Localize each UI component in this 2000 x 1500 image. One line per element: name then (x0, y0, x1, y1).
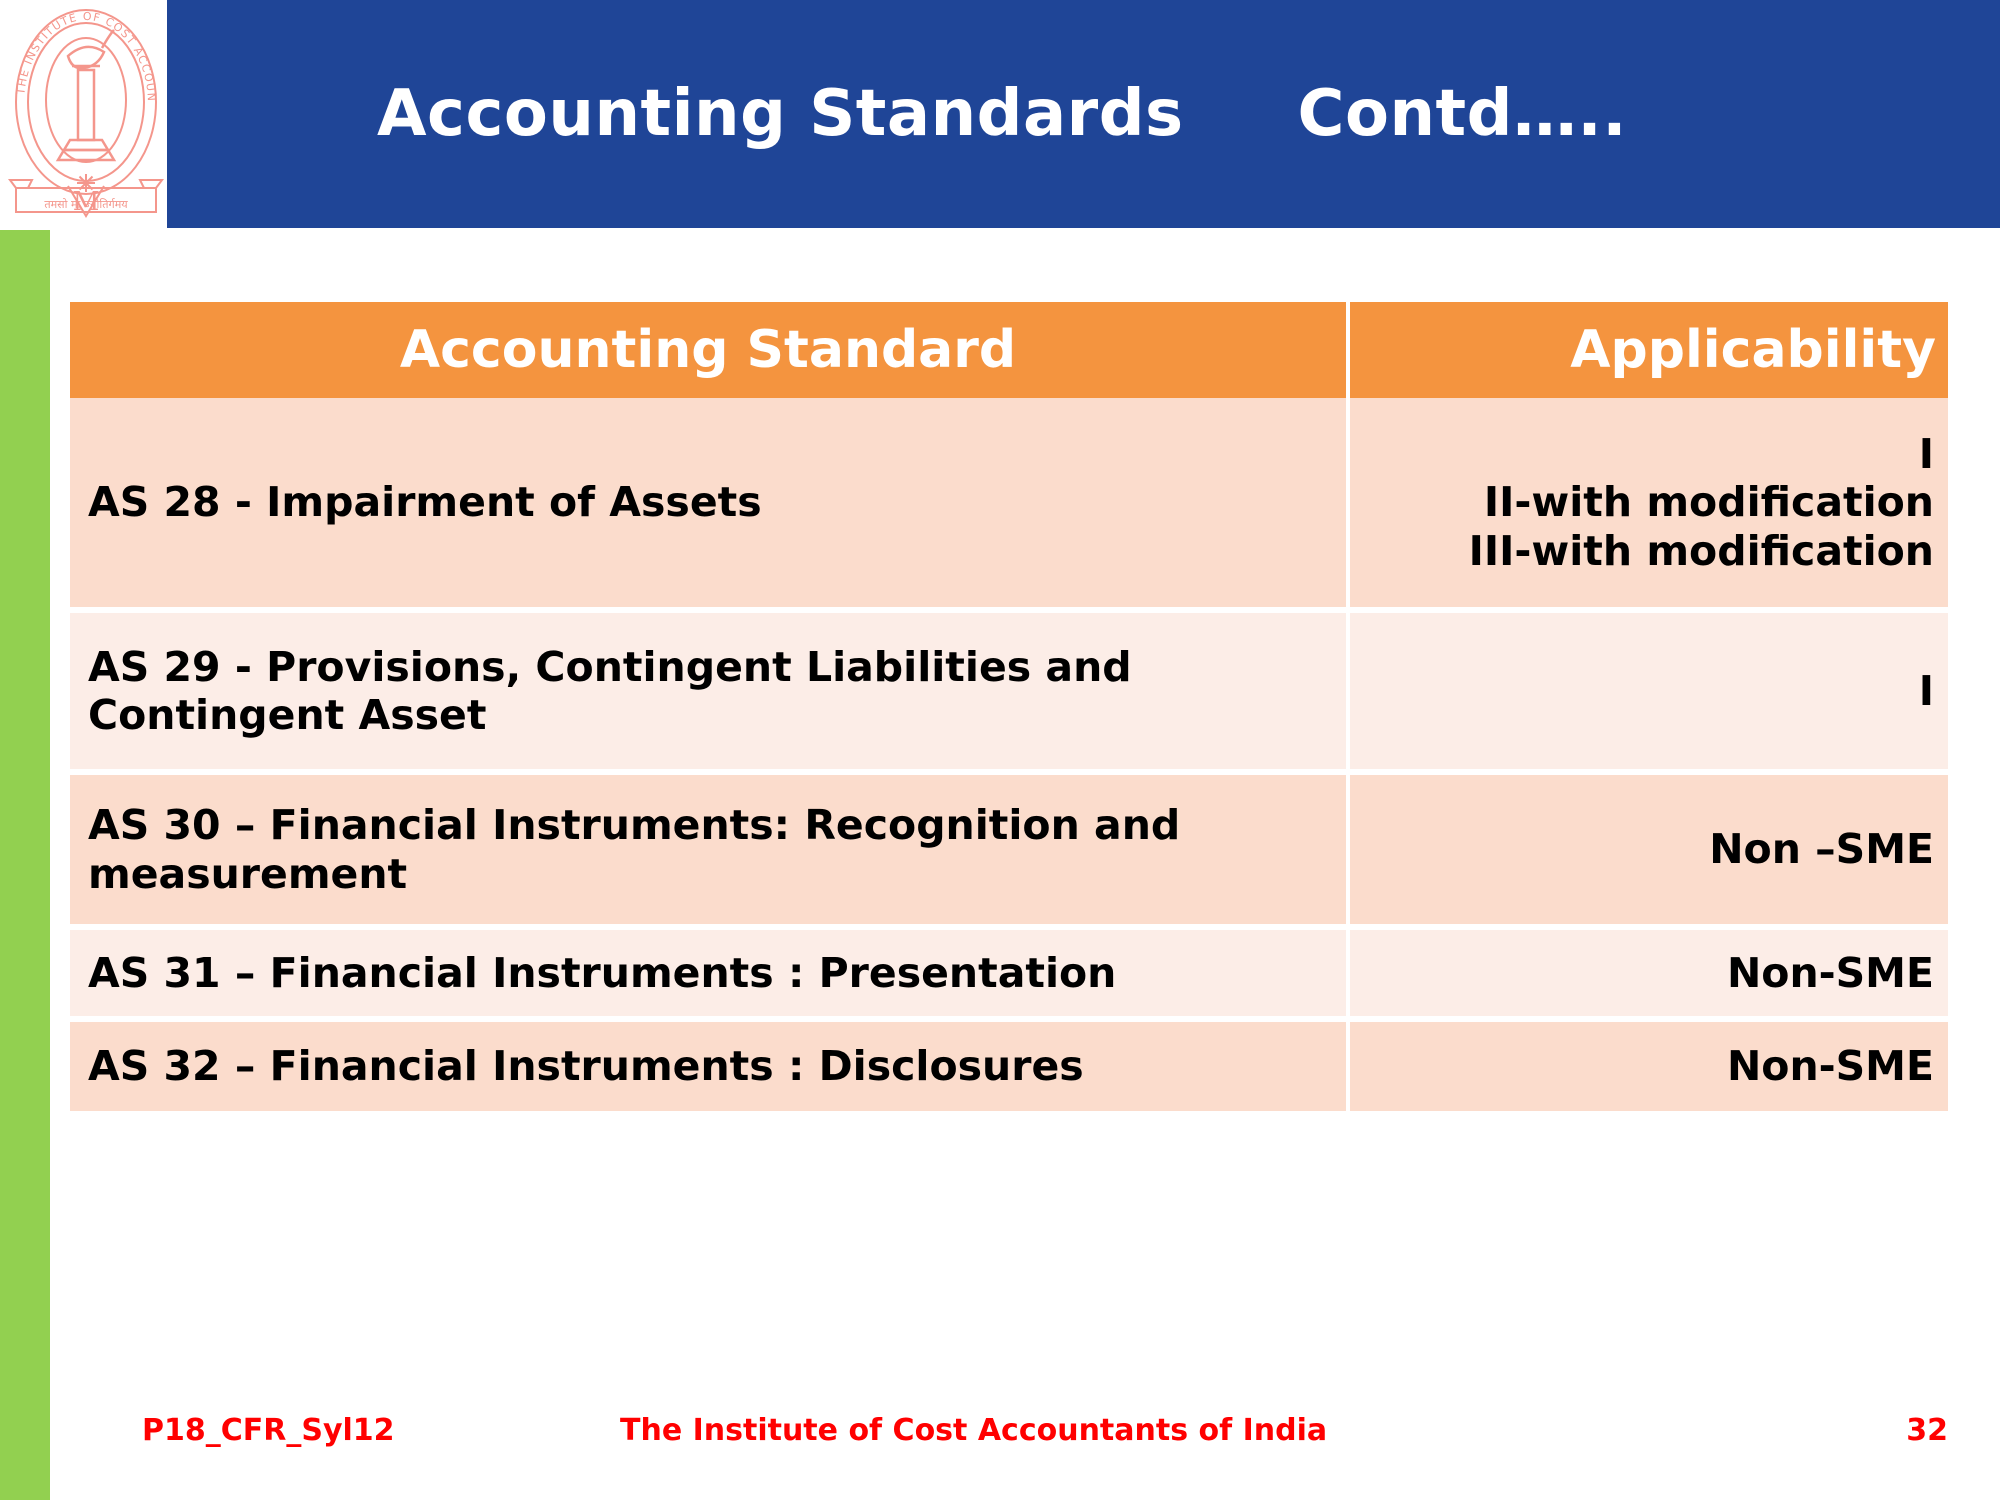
slide-footer: P18_CFR_Syl12 The Institute of Cost Acco… (0, 1405, 2000, 1465)
accounting-standards-table: Accounting Standard Applicability AS 28 … (70, 302, 1948, 1111)
cell-applicability: Non-SME (1348, 1019, 1948, 1111)
cell-applicability: I (1348, 610, 1948, 772)
page-title: Accounting Standards Contd….. (167, 0, 2000, 228)
table-row: AS 30 – Financial Instruments: Recogniti… (70, 772, 1948, 927)
left-accent-bar (0, 230, 50, 1500)
slide: तमसो मा ज्योतिर्गमय M THE INSTITUTE OF C… (0, 0, 2000, 1500)
cell-standard: AS 29 - Provisions, Contingent Liabiliti… (70, 610, 1348, 772)
table-header-row: Accounting Standard Applicability (70, 302, 1948, 398)
cell-applicability: Non-SME (1348, 927, 1948, 1019)
column-header-accounting-standard: Accounting Standard (70, 302, 1348, 398)
cell-applicability: Non –SME (1348, 772, 1948, 927)
slide-header-bar: Accounting Standards Contd….. (167, 0, 2000, 228)
table-row: AS 32 – Financial Instruments : Disclosu… (70, 1019, 1948, 1111)
table-row: AS 28 - Impairment of Assets III-with mo… (70, 398, 1948, 610)
footer-paper-code: P18_CFR_Syl12 (142, 1413, 395, 1448)
cell-standard: AS 28 - Impairment of Assets (70, 398, 1348, 610)
column-header-applicability: Applicability (1348, 302, 1948, 398)
footer-page-number: 32 (1906, 1413, 1948, 1448)
cell-standard: AS 31 – Financial Instruments : Presenta… (70, 927, 1348, 1019)
footer-institute-name: The Institute of Cost Accountants of Ind… (620, 1413, 1327, 1448)
institute-logo-icon: तमसो मा ज्योतिर्गमय M THE INSTITUTE OF C… (6, 4, 166, 230)
cell-standard: AS 30 – Financial Instruments: Recogniti… (70, 772, 1348, 927)
table-row: AS 31 – Financial Instruments : Presenta… (70, 927, 1948, 1019)
cell-standard: AS 32 – Financial Instruments : Disclosu… (70, 1019, 1348, 1111)
svg-text:M: M (73, 187, 100, 217)
cell-applicability: III-with modificationIII-with modificati… (1348, 398, 1948, 610)
table-row: AS 29 - Provisions, Contingent Liabiliti… (70, 610, 1948, 772)
